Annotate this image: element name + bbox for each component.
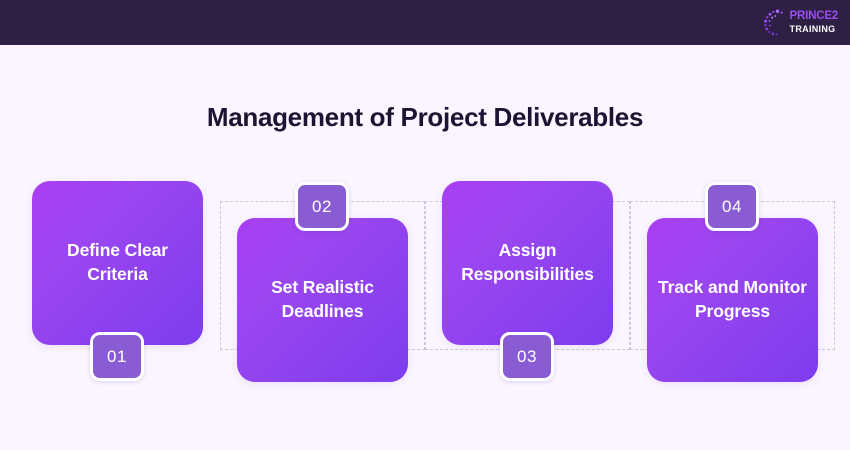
step-card-3[interactable]: Assign Responsibilities — [442, 181, 613, 345]
logo-title-text: PRINCE2 — [790, 11, 838, 23]
step-badge-1-number: 01 — [107, 347, 127, 367]
step-badge-4: 04 — [705, 182, 759, 231]
step-badge-3-number: 03 — [517, 347, 537, 367]
step-badge-2: 02 — [295, 182, 349, 231]
logo-subtitle-text: TRAINING — [790, 25, 838, 34]
brand-logo[interactable]: PRINCE2 TRAINING — [762, 5, 838, 40]
step-badge-4-number: 04 — [722, 197, 742, 217]
step-card-1[interactable]: Define Clear Criteria — [32, 181, 203, 345]
step-badge-3: 03 — [500, 332, 554, 381]
step-badge-1: 01 — [90, 332, 144, 381]
step-card-1-label: Define Clear Criteria — [32, 239, 203, 286]
step-card-2-label: Set Realistic Deadlines — [237, 276, 408, 323]
step-card-3-label: Assign Responsibilities — [442, 239, 613, 286]
step-card-4-label: Track and Monitor Progress — [647, 276, 818, 323]
process-diagram: Define Clear Criteria 01 Set Realistic D… — [0, 0, 850, 450]
top-header-bar: PRINCE2 TRAINING — [0, 0, 850, 45]
prince2-spiral-dots-logo-icon — [762, 8, 786, 38]
step-card-4[interactable]: Track and Monitor Progress — [647, 218, 818, 382]
step-badge-2-number: 02 — [312, 197, 332, 217]
step-card-2[interactable]: Set Realistic Deadlines — [237, 218, 408, 382]
